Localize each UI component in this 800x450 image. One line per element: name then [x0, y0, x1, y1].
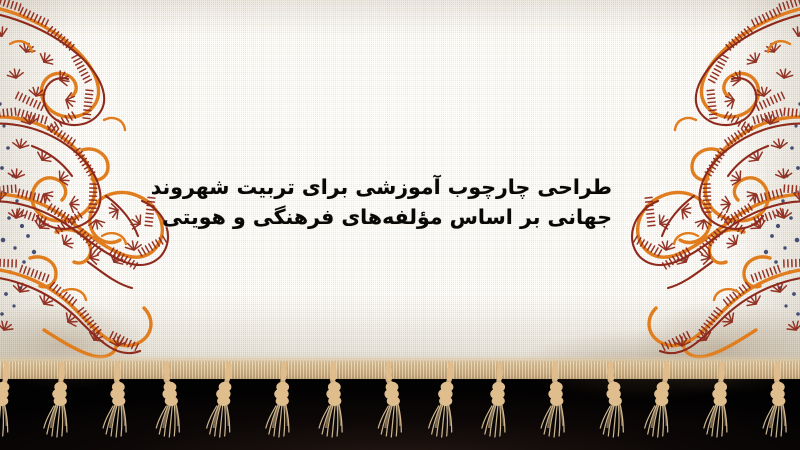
title-line-1: طراحی چارچوب آموزشی برای تربیت شهروند [188, 172, 612, 202]
tassel [314, 362, 354, 450]
tassel [758, 362, 798, 450]
tassel [371, 362, 411, 450]
slide-title: طراحی چارچوب آموزشی برای تربیت شهروند جه… [188, 172, 612, 232]
tassel [0, 362, 24, 450]
tassel-row [0, 362, 800, 450]
tassel [41, 362, 81, 450]
tassel [98, 362, 138, 450]
tassel [149, 362, 189, 450]
slide-canvas: طراحی چارچوب آموزشی برای تربیت شهروند جه… [0, 0, 800, 450]
tassel [701, 362, 741, 450]
title-line-2: جهانی بر اساس مؤلفه‌های فرهنگی و هویتی [188, 202, 612, 232]
tassel [206, 362, 246, 450]
tassel [263, 362, 303, 450]
tassel [644, 362, 684, 450]
tassel [593, 362, 633, 450]
tassel [536, 362, 576, 450]
tassel [428, 362, 468, 450]
tassel [479, 362, 519, 450]
